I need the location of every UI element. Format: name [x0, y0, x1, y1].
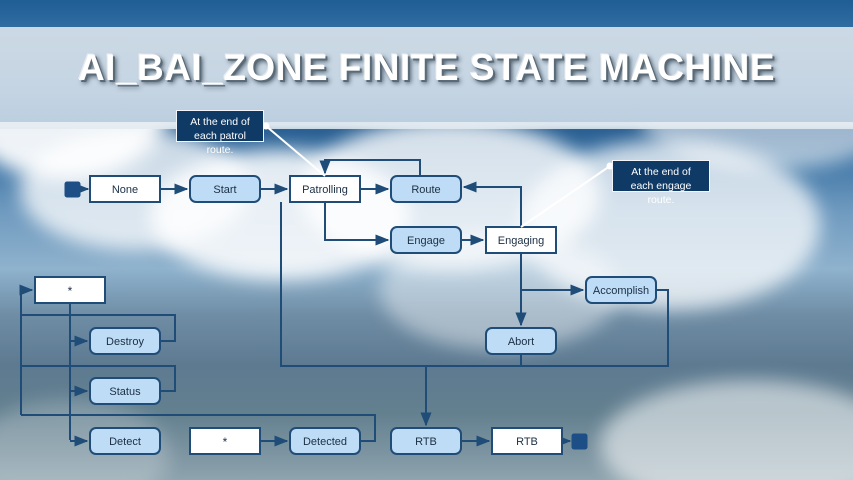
callout-engage-line2: each engage route.	[621, 179, 701, 207]
node-start-label: Start	[213, 184, 236, 196]
node-rtb-blue[interactable]: RTB	[391, 428, 461, 454]
node-any-top[interactable]: *	[35, 277, 105, 303]
start-terminator	[65, 182, 80, 197]
node-rtb-white[interactable]: RTB	[492, 428, 562, 454]
callout-patrol-leader	[266, 126, 325, 176]
node-destroy-label: Destroy	[106, 336, 144, 348]
callout-patrol: At the end of each patrol route.	[176, 110, 264, 142]
callout-engage-leader	[521, 166, 610, 227]
node-detected-label: Detected	[303, 436, 347, 448]
edge-engaging-route	[464, 187, 521, 227]
edge-engaging-accomplish	[521, 253, 583, 290]
slide-canvas: AI_BAI_ZONE FINITE STATE MACHINE	[0, 0, 853, 480]
node-rtb-blue-label: RTB	[415, 436, 437, 448]
node-route[interactable]: Route	[391, 176, 461, 202]
callout-engage-line1: At the end of	[621, 165, 701, 179]
node-status[interactable]: Status	[90, 378, 160, 404]
node-detect-label: Detect	[109, 436, 141, 448]
node-detect[interactable]: Detect	[90, 428, 160, 454]
node-detected[interactable]: Detected	[290, 428, 360, 454]
fsm-diagram: None Start Patrolling Route Engage Engag…	[0, 0, 853, 480]
node-start[interactable]: Start	[190, 176, 260, 202]
node-status-label: Status	[109, 386, 141, 398]
end-terminator	[572, 434, 587, 449]
node-any-bottom[interactable]: *	[190, 428, 260, 454]
node-engaging-label: Engaging	[498, 235, 545, 247]
callout-patrol-line2: each patrol route.	[185, 129, 255, 157]
callout-patrol-line1: At the end of	[185, 115, 255, 129]
node-engaging[interactable]: Engaging	[486, 227, 556, 253]
node-abort-label: Abort	[508, 336, 534, 348]
node-route-label: Route	[411, 184, 440, 196]
node-accomplish[interactable]: Accomplish	[586, 277, 656, 303]
node-none-label: None	[112, 184, 138, 196]
node-destroy[interactable]: Destroy	[90, 328, 160, 354]
edge-patrolling-engage	[325, 202, 388, 240]
node-rtb-white-label: RTB	[516, 436, 538, 448]
node-abort[interactable]: Abort	[486, 328, 556, 354]
node-patrolling[interactable]: Patrolling	[290, 176, 360, 202]
node-engage-label: Engage	[407, 235, 445, 247]
callout-engage: At the end of each engage route.	[612, 160, 710, 192]
node-engage[interactable]: Engage	[391, 227, 461, 253]
node-any-bottom-label: *	[223, 435, 228, 449]
edge-route-patrolling	[325, 160, 420, 176]
node-accomplish-label: Accomplish	[593, 285, 649, 297]
callout-leader-layer	[263, 123, 614, 228]
node-none[interactable]: None	[90, 176, 160, 202]
node-any-top-label: *	[68, 284, 73, 298]
node-patrolling-label: Patrolling	[302, 184, 348, 196]
